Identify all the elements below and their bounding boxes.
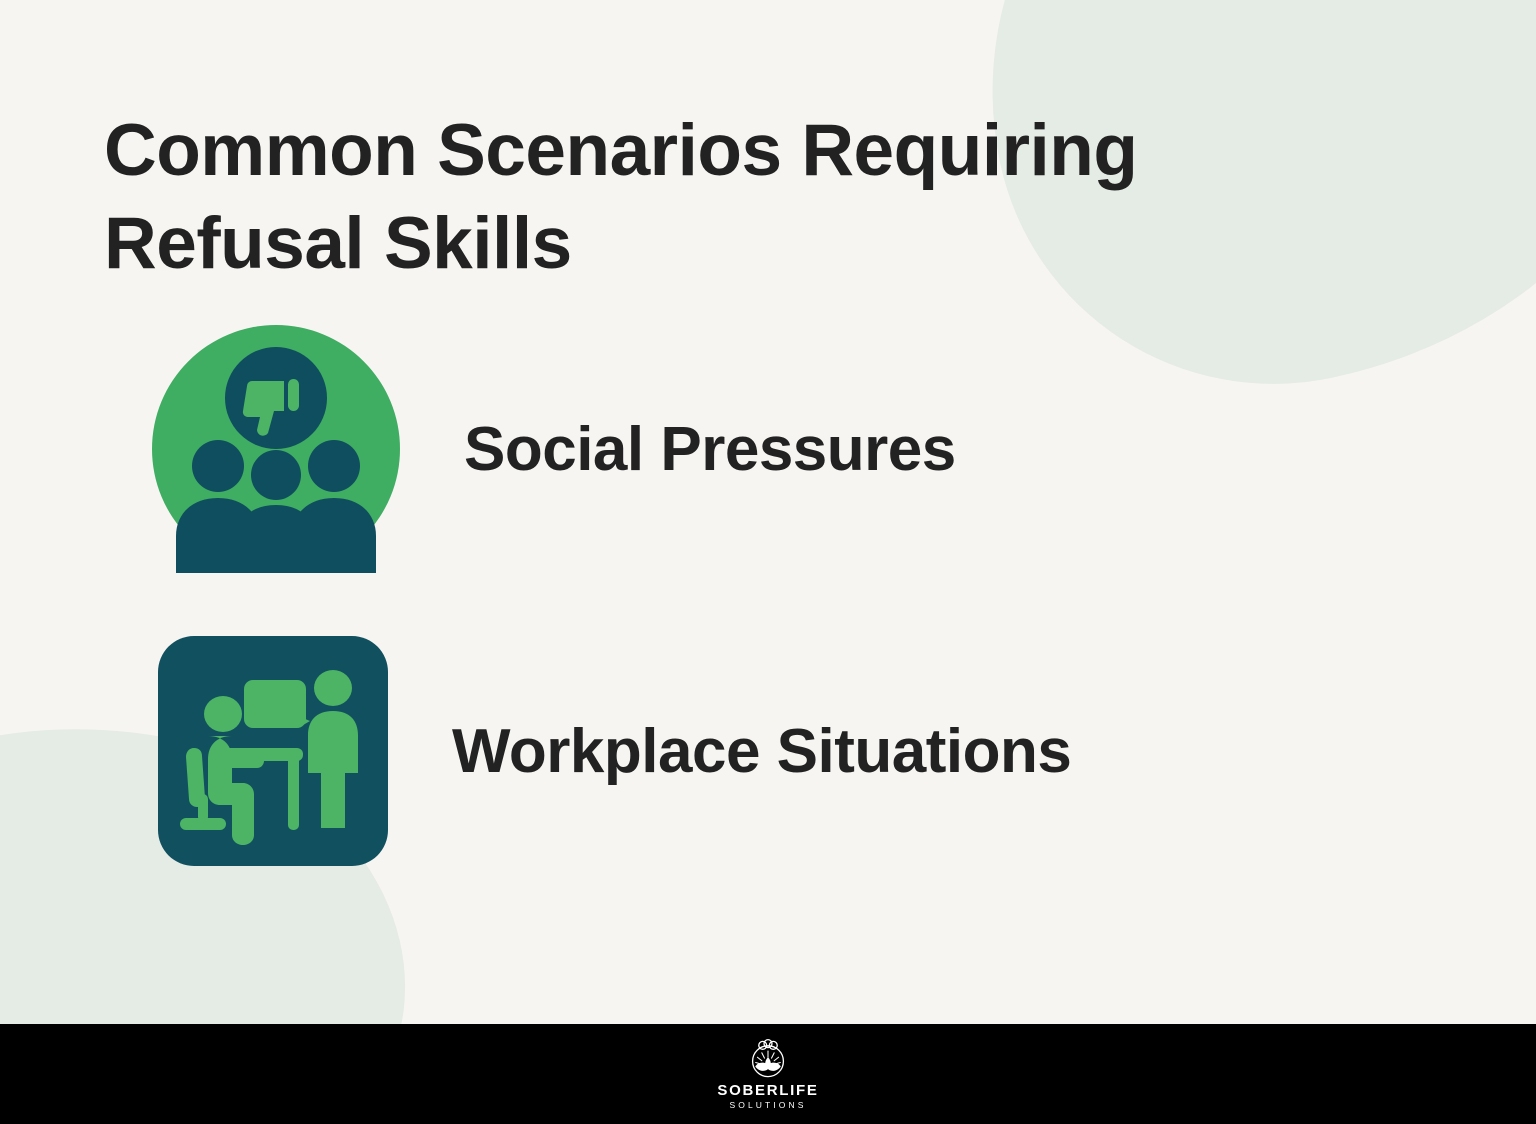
brand-name: SOBERLIFE [717, 1083, 818, 1100]
footer-bar: SOBERLIFE SOLUTIONS [0, 1024, 1536, 1124]
soberlife-lotus-sunrise-icon [746, 1037, 790, 1081]
list-item-label: Social Pressures [464, 414, 956, 485]
group-thumbs-down-icon [152, 325, 400, 573]
workplace-meeting-icon [158, 636, 388, 866]
brand-subtitle: SOLUTIONS [729, 1100, 806, 1111]
slide-canvas: Common Scenarios Requiring Refusal Skill… [0, 0, 1536, 1124]
scenario-list: Social Pressures [0, 318, 1536, 882]
page-title: Common Scenarios Requiring Refusal Skill… [104, 104, 1364, 291]
list-item: Social Pressures [0, 318, 1536, 580]
list-item-label: Workplace Situations [452, 716, 1071, 787]
list-item: Workplace Situations [0, 620, 1536, 882]
